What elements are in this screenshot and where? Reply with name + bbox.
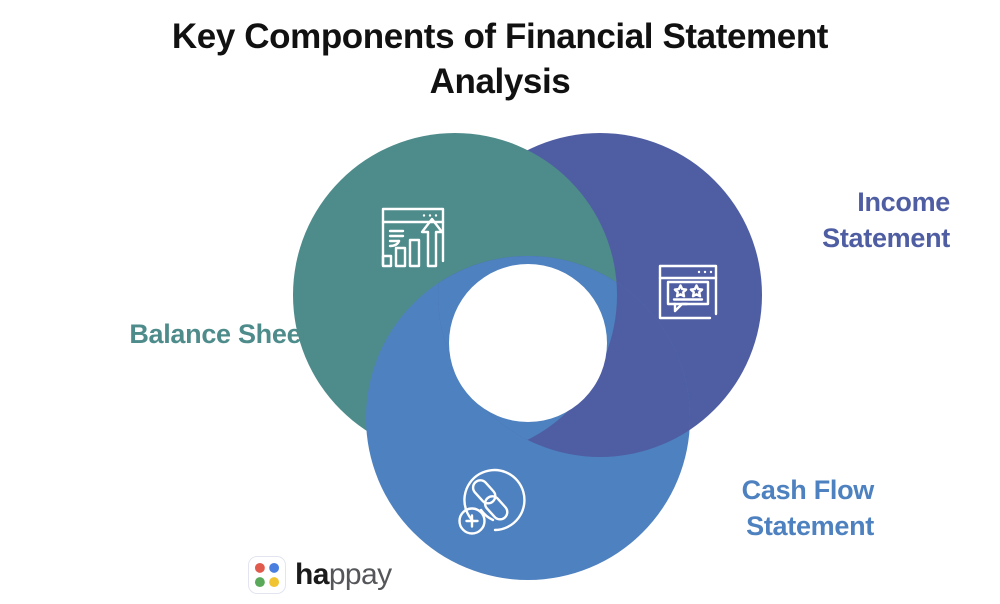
happay-four-dot-icon — [248, 556, 286, 594]
infographic-page: Key Components of Financial Statement An… — [0, 0, 1000, 604]
happay-wordmark: happay — [295, 560, 391, 590]
logo-word-bold: ha — [295, 558, 329, 591]
happay-logo: happay — [248, 556, 391, 594]
label-cash-flow-statement: Cash Flow Statement — [640, 472, 874, 544]
logo-dot-red — [255, 563, 265, 573]
label-income-statement: Income Statement — [700, 184, 950, 256]
label-balance-sheet: Balance Sheet — [20, 316, 310, 352]
logo-dot-blue — [269, 563, 279, 573]
logo-dot-green — [255, 577, 265, 587]
logo-dot-yellow — [269, 577, 279, 587]
logo-word-light: ppay — [329, 558, 392, 591]
